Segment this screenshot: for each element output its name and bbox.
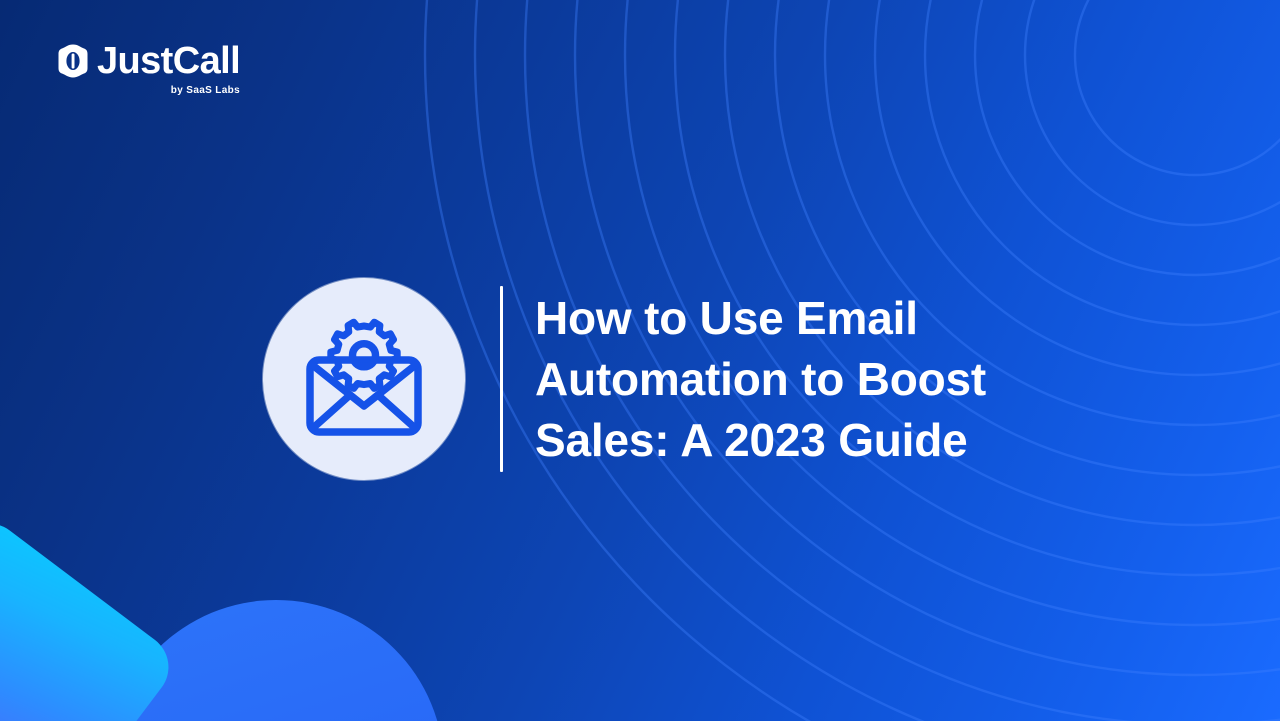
logo-text-block: JustCall by SaaS Labs — [97, 42, 240, 96]
justcall-logo[interactable]: JustCall by SaaS Labs — [58, 42, 240, 96]
justcall-logo-mark-icon — [58, 44, 88, 78]
hero-divider — [500, 286, 503, 472]
email-automation-icon-badge — [263, 278, 465, 480]
logo-tagline: by SaaS Labs — [171, 85, 240, 96]
blog-cover-banner: JustCall by SaaS Labs — [0, 0, 1280, 721]
envelope-with-gear-icon — [298, 318, 430, 440]
hero-content: How to Use Email Automation to Boost Sal… — [263, 257, 986, 502]
page-title: How to Use Email Automation to Boost Sal… — [535, 288, 986, 471]
logo-wordmark: JustCall — [97, 42, 240, 80]
decorative-rounded-square-shape — [0, 510, 182, 721]
